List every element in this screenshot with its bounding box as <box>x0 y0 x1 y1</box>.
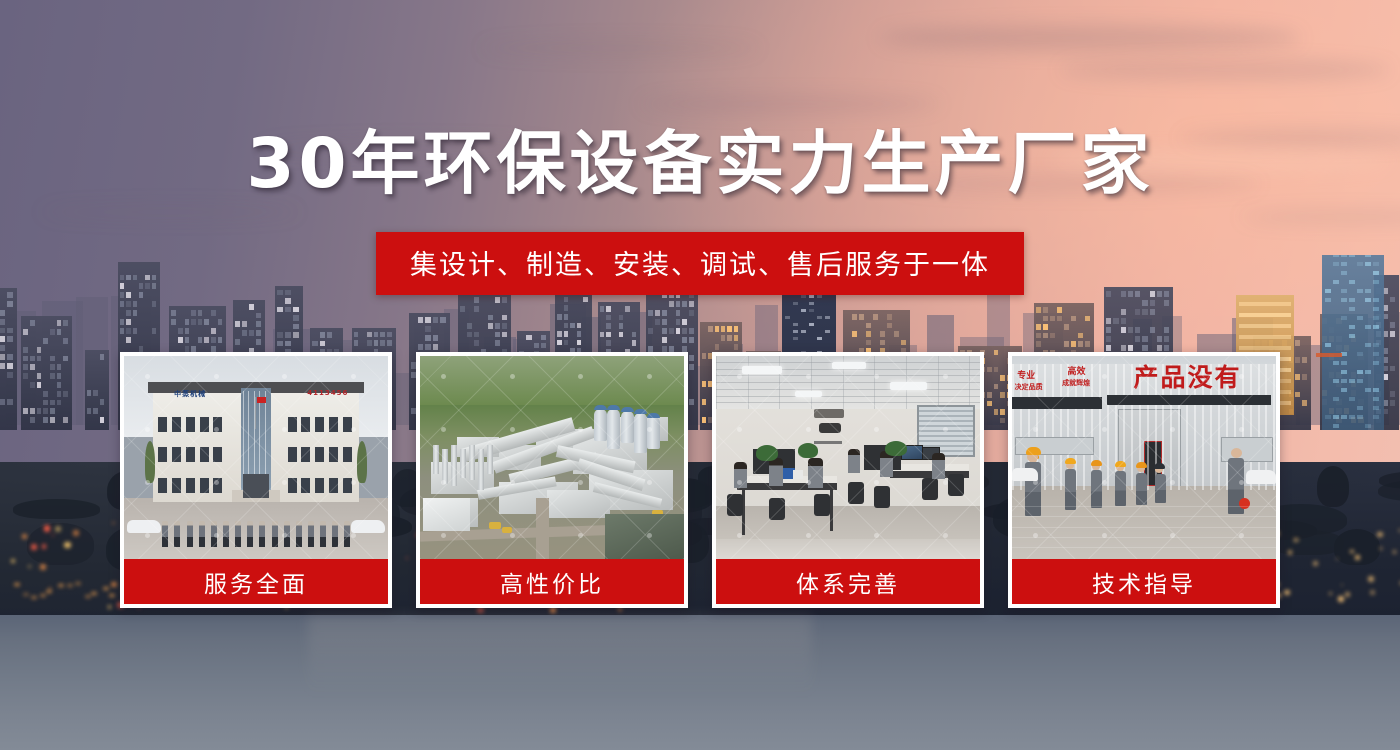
factory-slogan-3: 高效 <box>1067 364 1085 377</box>
page-title: 30年环保设备实力生产厂家 <box>0 128 1400 200</box>
card-caption: 体系完善 <box>716 559 980 604</box>
card-photo-factory-workers: 专业 决定品质 高效 成就辉煌 产品没有 <box>1012 356 1276 559</box>
feature-card[interactable]: 高性价比 <box>416 352 688 608</box>
card-caption: 高性价比 <box>420 559 684 604</box>
building-phone-text: 4113456 <box>307 389 348 397</box>
feature-card[interactable]: 专业 决定品质 高效 成就辉煌 产品没有 技术指导 <box>1008 352 1280 608</box>
building-sign-text: 中蒸机械 <box>174 389 206 399</box>
feature-card[interactable]: 体系完善 <box>712 352 984 608</box>
river-reflection <box>308 615 812 750</box>
factory-slogan-big: 产品没有 <box>1133 358 1241 394</box>
river-layer <box>0 615 1400 750</box>
factory-slogan-2: 决定品质 <box>1015 382 1043 392</box>
card-photo-industrial-plant <box>420 356 684 559</box>
factory-slogan-1: 专业 <box>1017 368 1035 381</box>
card-photo-office-building: 中蒸机械 4113456 <box>124 356 388 559</box>
promo-banner-stage: 30年环保设备实力生产厂家 集设计、制造、安装、调试、售后服务于一体 中蒸机械 … <box>0 0 1400 750</box>
card-caption: 服务全面 <box>124 559 388 604</box>
feature-card[interactable]: 中蒸机械 4113456 服务全面 <box>120 352 392 608</box>
subtitle-banner: 集设计、制造、安装、调试、售后服务于一体 <box>376 232 1024 295</box>
feature-card-row: 中蒸机械 4113456 服务全面 高性价比 <box>120 352 1280 608</box>
factory-slogan-4: 成就辉煌 <box>1062 378 1090 388</box>
card-photo-office-interior <box>716 356 980 559</box>
card-caption: 技术指导 <box>1012 559 1276 604</box>
